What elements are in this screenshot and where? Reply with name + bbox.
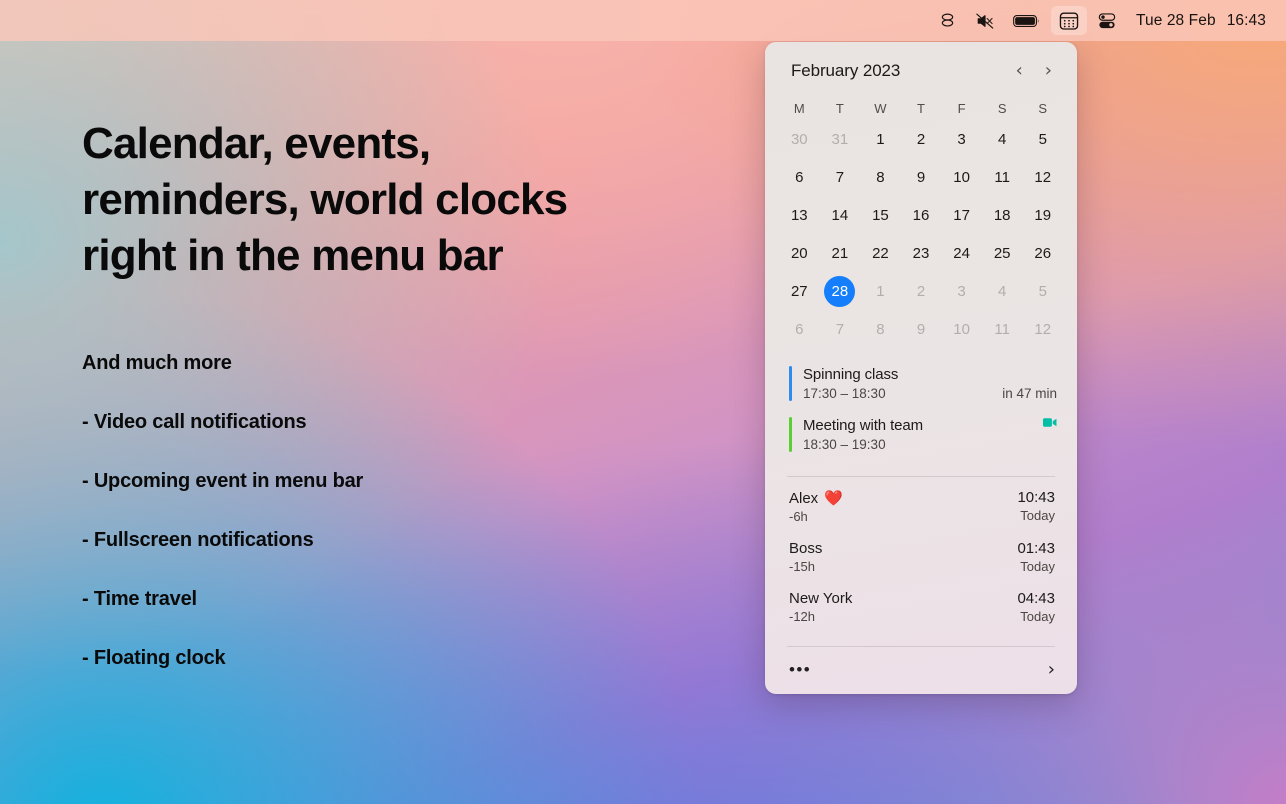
calendar-day-cell[interactable]: 12: [1022, 310, 1063, 348]
calendar-day-cell[interactable]: 7: [820, 158, 861, 196]
chevron-right-icon[interactable]: ›: [1042, 60, 1055, 82]
calendar-day-cell[interactable]: 11: [982, 158, 1023, 196]
subheading: And much more: [82, 352, 722, 375]
world-clock-label: New York: [789, 590, 852, 607]
weekday-fri: F: [941, 96, 982, 120]
headline-line-3: right in the menu bar: [82, 228, 722, 284]
hero-section: Calendar, events, reminders, world clock…: [82, 116, 722, 670]
calendar-day-cell[interactable]: 3: [941, 120, 982, 158]
page-title: Calendar, events, reminders, world clock…: [82, 116, 722, 284]
calendar-day-cell[interactable]: 31: [820, 120, 861, 158]
calendar-day-cell[interactable]: 17: [941, 196, 982, 234]
calendar-day-cell[interactable]: 30: [779, 120, 820, 158]
calendar-day-cell[interactable]: 8: [860, 158, 901, 196]
calendar-day-cell[interactable]: 26: [1022, 234, 1063, 272]
calendar-day-cell[interactable]: 11: [982, 310, 1023, 348]
weekday-header-row: M T W T F S S: [779, 96, 1063, 120]
calendar-day-cell[interactable]: 10: [941, 310, 982, 348]
calendar-menubar-icon[interactable]: [1051, 6, 1087, 35]
calendar-day-cell[interactable]: 18: [982, 196, 1023, 234]
calendar-week-row: 303112345: [779, 120, 1063, 158]
weekday-tue: T: [820, 96, 861, 120]
video-call-icon[interactable]: [1043, 417, 1057, 428]
event-time: 17:30 – 18:30: [803, 386, 886, 401]
world-clock-name: Alex ❤️: [789, 489, 843, 507]
calendar-day-cell[interactable]: 22: [860, 234, 901, 272]
world-clock-offset: -6h: [789, 509, 843, 524]
calendar-day-cell[interactable]: 12: [1022, 158, 1063, 196]
event-item[interactable]: Spinning class 17:30 – 18:30 in 47 min: [789, 366, 1057, 401]
calendar-day-cell[interactable]: 2: [901, 120, 942, 158]
world-clock-label: Alex: [789, 490, 818, 507]
menu-bar: Tue 28 Feb 16:43: [0, 0, 1286, 41]
weekday-wed: W: [860, 96, 901, 120]
calendar-day-cell[interactable]: 6: [779, 310, 820, 348]
calendar-day-cell[interactable]: 7: [820, 310, 861, 348]
calendar-day-cell[interactable]: 4: [982, 120, 1023, 158]
calendar-day-cell[interactable]: 21: [820, 234, 861, 272]
calendar-weeks: 3031123456789101112131415161718192021222…: [779, 120, 1063, 348]
calendar-day-cell[interactable]: 3: [941, 272, 982, 310]
calendar-day-cell[interactable]: 1: [860, 120, 901, 158]
calendar-day-cell[interactable]: 25: [982, 234, 1023, 272]
calendar-day-cell[interactable]: 15: [860, 196, 901, 234]
calendar-day-cell[interactable]: 14: [820, 196, 861, 234]
weekday-mon: M: [779, 96, 820, 120]
calendar-grid: M T W T F S S 30311234567891011121314151…: [765, 86, 1077, 352]
feature-item-5: - Floating clock: [82, 647, 722, 670]
headline-line-2: reminders, world clocks: [82, 172, 722, 228]
event-title: Spinning class: [803, 366, 898, 383]
calendar-today-highlight[interactable]: 28: [824, 276, 855, 307]
world-clock-name: New York: [789, 590, 852, 607]
headline-line-1: Calendar, events,: [82, 116, 722, 172]
calendar-nav: ‹ ›: [1013, 60, 1055, 82]
heart-emoji-icon: ❤️: [824, 489, 843, 507]
event-time: 18:30 – 19:30: [803, 437, 886, 452]
calendar-day-cell[interactable]: 27: [779, 272, 820, 310]
calendar-day-cell[interactable]: 8: [860, 310, 901, 348]
volume-mute-icon[interactable]: [967, 6, 1003, 35]
calendar-popover: February 2023 ‹ › M T W T F S S 30311234…: [765, 42, 1077, 694]
calendar-day-cell[interactable]: 23: [901, 234, 942, 272]
calendar-day-cell[interactable]: 24: [941, 234, 982, 272]
chevron-right-icon[interactable]: ›: [1048, 659, 1055, 680]
feature-item-4: - Time travel: [82, 588, 722, 611]
bartender-stack-icon[interactable]: [930, 6, 965, 35]
event-relative-time: in 47 min: [1002, 386, 1057, 401]
menubar-date: Tue 28 Feb: [1136, 12, 1216, 30]
event-color-bar: [789, 417, 792, 452]
calendar-day-cell[interactable]: 5: [1022, 272, 1063, 310]
more-options-button[interactable]: •••: [789, 661, 811, 678]
world-clock-time: 01:43: [1017, 540, 1055, 557]
feature-item-1: - Video call notifications: [82, 411, 722, 434]
calendar-day-cell[interactable]: 9: [901, 310, 942, 348]
world-clock-offset: -15h: [789, 559, 822, 574]
event-item[interactable]: Meeting with team 18:30 – 19:30: [789, 417, 1057, 452]
calendar-week-row: 6789101112: [779, 158, 1063, 196]
world-clock-day: Today: [1017, 559, 1055, 574]
world-clock-row[interactable]: Alex ❤️ -6h 10:43 Today: [789, 489, 1055, 524]
world-clock-time: 10:43: [1017, 489, 1055, 506]
calendar-day-cell[interactable]: 19: [1022, 196, 1063, 234]
calendar-header: February 2023 ‹ ›: [765, 42, 1077, 86]
world-clock-offset: -12h: [789, 609, 852, 624]
calendar-week-row: 13141516171819: [779, 196, 1063, 234]
world-clock-row[interactable]: Boss -15h 01:43 Today: [789, 540, 1055, 574]
menubar-time: 16:43: [1227, 12, 1266, 30]
calendar-week-row: 20212223242526: [779, 234, 1063, 272]
world-clock-day: Today: [1017, 508, 1055, 523]
world-clocks-list: Alex ❤️ -6h 10:43 Today Boss -15h: [765, 477, 1077, 644]
world-clock-name: Boss: [789, 540, 822, 557]
world-clock-day: Today: [1017, 609, 1055, 624]
feature-item-3: - Fullscreen notifications: [82, 529, 722, 552]
weekday-sun: S: [1022, 96, 1063, 120]
world-clock-time: 04:43: [1017, 590, 1055, 607]
calendar-day-cell[interactable]: 4: [982, 272, 1023, 310]
menubar-clock[interactable]: Tue 28 Feb 16:43: [1126, 12, 1272, 30]
weekday-thu: T: [901, 96, 942, 120]
calendar-day-cell[interactable]: 20: [779, 234, 820, 272]
calendar-week-row: 6789101112: [779, 310, 1063, 348]
weekday-sat: S: [982, 96, 1023, 120]
calendar-day-cell[interactable]: 10: [941, 158, 982, 196]
world-clock-row[interactable]: New York -12h 04:43 Today: [789, 590, 1055, 624]
world-clock-label: Boss: [789, 540, 822, 557]
event-color-bar: [789, 366, 792, 401]
chevron-left-icon[interactable]: ‹: [1013, 60, 1026, 82]
desktop-wallpaper: Tue 28 Feb 16:43 Calendar, events, remin…: [0, 0, 1286, 804]
calendar-day-cell[interactable]: 9: [901, 158, 942, 196]
events-list: Spinning class 17:30 – 18:30 in 47 min M…: [765, 352, 1077, 474]
popover-footer: ••• ›: [765, 647, 1077, 690]
calendar-day-cell[interactable]: 6: [779, 158, 820, 196]
calendar-day-cell[interactable]: 13: [779, 196, 820, 234]
calendar-week-row: 272812345: [779, 272, 1063, 310]
control-center-icon[interactable]: [1089, 6, 1125, 35]
calendar-day-cell[interactable]: 1: [860, 272, 901, 310]
calendar-day-cell[interactable]: 2: [901, 272, 942, 310]
calendar-month-title: February 2023: [791, 61, 900, 81]
feature-item-2: - Upcoming event in menu bar: [82, 470, 722, 493]
calendar-day-cell[interactable]: 5: [1022, 120, 1063, 158]
calendar-day-cell[interactable]: 28: [820, 272, 861, 310]
battery-icon[interactable]: [1005, 6, 1049, 35]
calendar-day-cell[interactable]: 16: [901, 196, 942, 234]
event-title: Meeting with team: [803, 417, 923, 434]
